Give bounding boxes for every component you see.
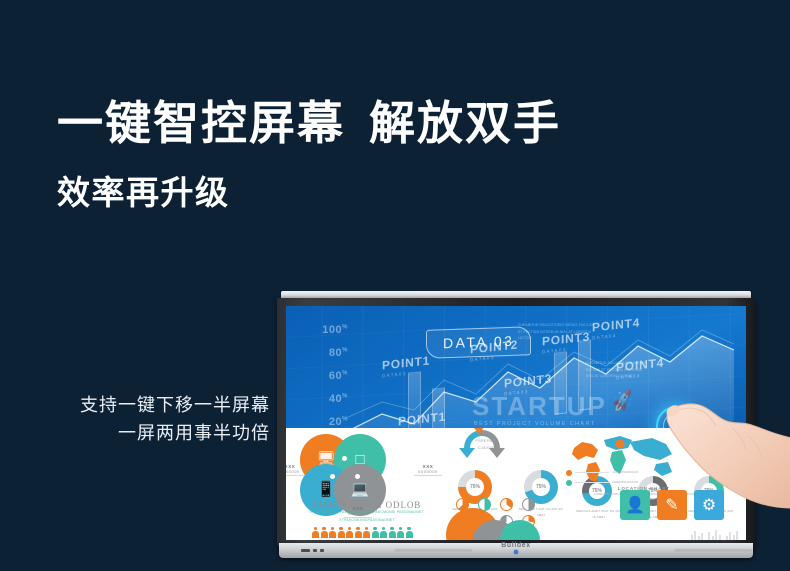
cycle-label: PSPEPWM CJAVDF [468, 438, 504, 452]
startup-heading: STARTUP [472, 391, 607, 422]
pencil-icon-tile[interactable]: ✎ [657, 490, 687, 520]
donut-caption: SERIOUS AMET SIMT SO AMT IS AMET [576, 508, 622, 520]
person-icon-tile[interactable]: 👤 [620, 490, 650, 520]
screen-lower-pane[interactable]: 🖥 □ 📱 💻 XXX0000000 XXX0000000 [286, 428, 746, 540]
venn-label: XXX0000000 [286, 464, 304, 477]
people-row [312, 527, 413, 538]
page-root: 一键智控屏幕解放双手 效率再升级 支持一键下移一半屏幕 一屏两用事半功倍 100… [0, 0, 790, 571]
feature-caption: 支持一键下移一半屏幕 一屏两用事半功倍 [20, 392, 270, 448]
venn-diagram: 🖥 □ 📱 💻 [300, 434, 412, 510]
icon-tile-row[interactable]: 👤 ✎ ⚙ [620, 490, 724, 520]
map-legend-item: LOREM IPSUM DOLOR [566, 470, 638, 476]
rocket-icon: 🚀 [610, 389, 636, 414]
display-screen[interactable]: 100% 80% 60% 40% 20% DATA 03 CURABITUR S… [286, 306, 746, 540]
display-frame: 100% 80% 60% 40% 20% DATA 03 CURABITUR S… [277, 298, 755, 546]
page-title-part-2: 解放双手 [369, 97, 561, 149]
infographic-body: ETPASCIMONSI PASIONAUNIUTERPASCMONSI PAS… [294, 509, 440, 524]
display-bottom-bezel: Bulldex [279, 543, 753, 558]
power-indicator[interactable] [514, 550, 518, 554]
mobile-icon: 📱 [317, 482, 336, 497]
gear-icon-tile[interactable]: ⚙ [694, 490, 724, 520]
gear-icon: ⚙ [702, 495, 716, 515]
page-title-part-1: 一键智控屏幕 [57, 97, 345, 149]
touch-ripple [656, 406, 696, 428]
startup-subheading: BEST PROJECT VOLUME CHART [474, 421, 596, 427]
monitor-icon: 💻 [351, 482, 370, 497]
interactive-display[interactable]: 100% 80% 60% 40% 20% DATA 03 CURABITUR S… [277, 291, 755, 563]
venn-label: XXX0000000 [414, 464, 442, 477]
display-control-buttons[interactable] [301, 549, 324, 552]
speaker-grille-right [674, 549, 752, 552]
speaker-grille-left [394, 549, 472, 552]
feature-caption-line-1: 支持一键下移一半屏幕 [20, 392, 270, 420]
feature-caption-line-2: 一屏两用事半功倍 [20, 420, 270, 448]
page-title: 一键智控屏幕解放双手 [57, 98, 561, 150]
pencil-icon: ✎ [665, 495, 678, 515]
person-icon: 👤 [625, 495, 645, 515]
brand-label: Bulldex [279, 542, 753, 549]
sparkline-row [691, 530, 739, 540]
screen-upper-pane[interactable]: 100% 80% 60% 40% 20% DATA 03 CURABITUR S… [286, 306, 746, 428]
page-subtitle: 效率再升级 [57, 166, 230, 214]
